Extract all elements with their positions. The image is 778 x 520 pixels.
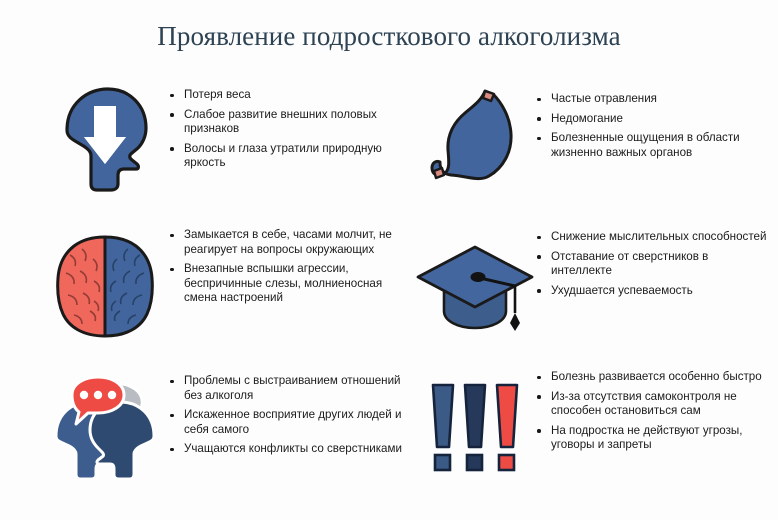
stomach-icon-svg bbox=[427, 84, 523, 202]
stomach-icon bbox=[412, 78, 537, 208]
list-item: Частые отравления bbox=[537, 92, 770, 107]
block-progression: Болезнь развивается особенно быстро Из-з… bbox=[412, 364, 770, 506]
list-item: Искаженное восприятие других людей и себ… bbox=[170, 408, 410, 437]
list-item: Болезнь развивается особенно быстро bbox=[537, 370, 770, 385]
bullet-list: Потеря веса Слабое развитие внешних поло… bbox=[170, 78, 410, 171]
content-grid: Потеря веса Слабое развитие внешних поло… bbox=[0, 72, 778, 520]
two-heads-speech-bubble-icon-svg bbox=[46, 374, 164, 484]
list-item: Отставание от сверстников в интеллекте bbox=[537, 250, 770, 279]
title-bar: Проявление подросткового алкоголизма bbox=[0, 0, 778, 72]
graduation-cap-icon bbox=[412, 222, 537, 352]
list-item: На подростка не действуют угрозы, уговор… bbox=[537, 424, 770, 453]
list-item: Потеря веса bbox=[170, 88, 410, 103]
brain-icon-svg bbox=[52, 233, 158, 341]
block-stomach: Частые отравления Недомогание Болезненны… bbox=[412, 78, 770, 218]
bullet-list: Замыкается в себе, часами молчит, не реа… bbox=[170, 222, 410, 306]
list-item: Замыкается в себе, часами молчит, не реа… bbox=[170, 228, 410, 257]
list-item: Снижение мыслительных способностей bbox=[537, 230, 770, 245]
bullet-list: Снижение мыслительных способностей Отста… bbox=[537, 222, 770, 298]
brain-icon bbox=[40, 222, 170, 352]
list-item: Болезненные ощущения в области жизненно … bbox=[537, 131, 770, 160]
list-item: Проблемы с выстраиванием отношений без а… bbox=[170, 374, 410, 403]
list-item: Недомогание bbox=[537, 112, 770, 127]
list-item: Внезапные вспышки агрессии, беспричинные… bbox=[170, 262, 410, 306]
bullet-list: Проблемы с выстраиванием отношений без а… bbox=[170, 364, 410, 457]
list-item: Ухудшается успеваемость bbox=[537, 284, 770, 299]
infographic-poster: Проявление подросткового алкоголизма Пот… bbox=[0, 0, 778, 520]
list-item: Из-за отсутствия самоконтроля не способе… bbox=[537, 390, 770, 419]
page-title: Проявление подросткового алкоголизма bbox=[157, 21, 620, 52]
head-down-arrow-icon bbox=[40, 78, 170, 208]
head-down-arrow-icon-svg bbox=[53, 84, 157, 202]
exclamation-marks-icon bbox=[412, 364, 537, 494]
block-weight-loss: Потеря веса Слабое развитие внешних поло… bbox=[40, 78, 410, 218]
graduation-cap-icon-svg bbox=[414, 239, 536, 335]
block-education: Снижение мыслительных способностей Отста… bbox=[412, 222, 770, 362]
list-item: Учащаются конфликты со сверстниками bbox=[170, 442, 410, 457]
exclamation-marks-icon-svg bbox=[423, 379, 527, 479]
block-brain: Замыкается в себе, часами молчит, не реа… bbox=[40, 222, 410, 362]
bullet-list: Частые отравления Недомогание Болезненны… bbox=[537, 78, 770, 160]
two-heads-speech-bubble-icon bbox=[40, 364, 170, 494]
bullet-list: Болезнь развивается особенно быстро Из-з… bbox=[537, 364, 770, 453]
list-item: Слабое развитие внешних половых признако… bbox=[170, 108, 410, 137]
list-item: Волосы и глаза утратили природную яркост… bbox=[170, 142, 410, 171]
block-social: Проблемы с выстраиванием отношений без а… bbox=[40, 364, 410, 506]
